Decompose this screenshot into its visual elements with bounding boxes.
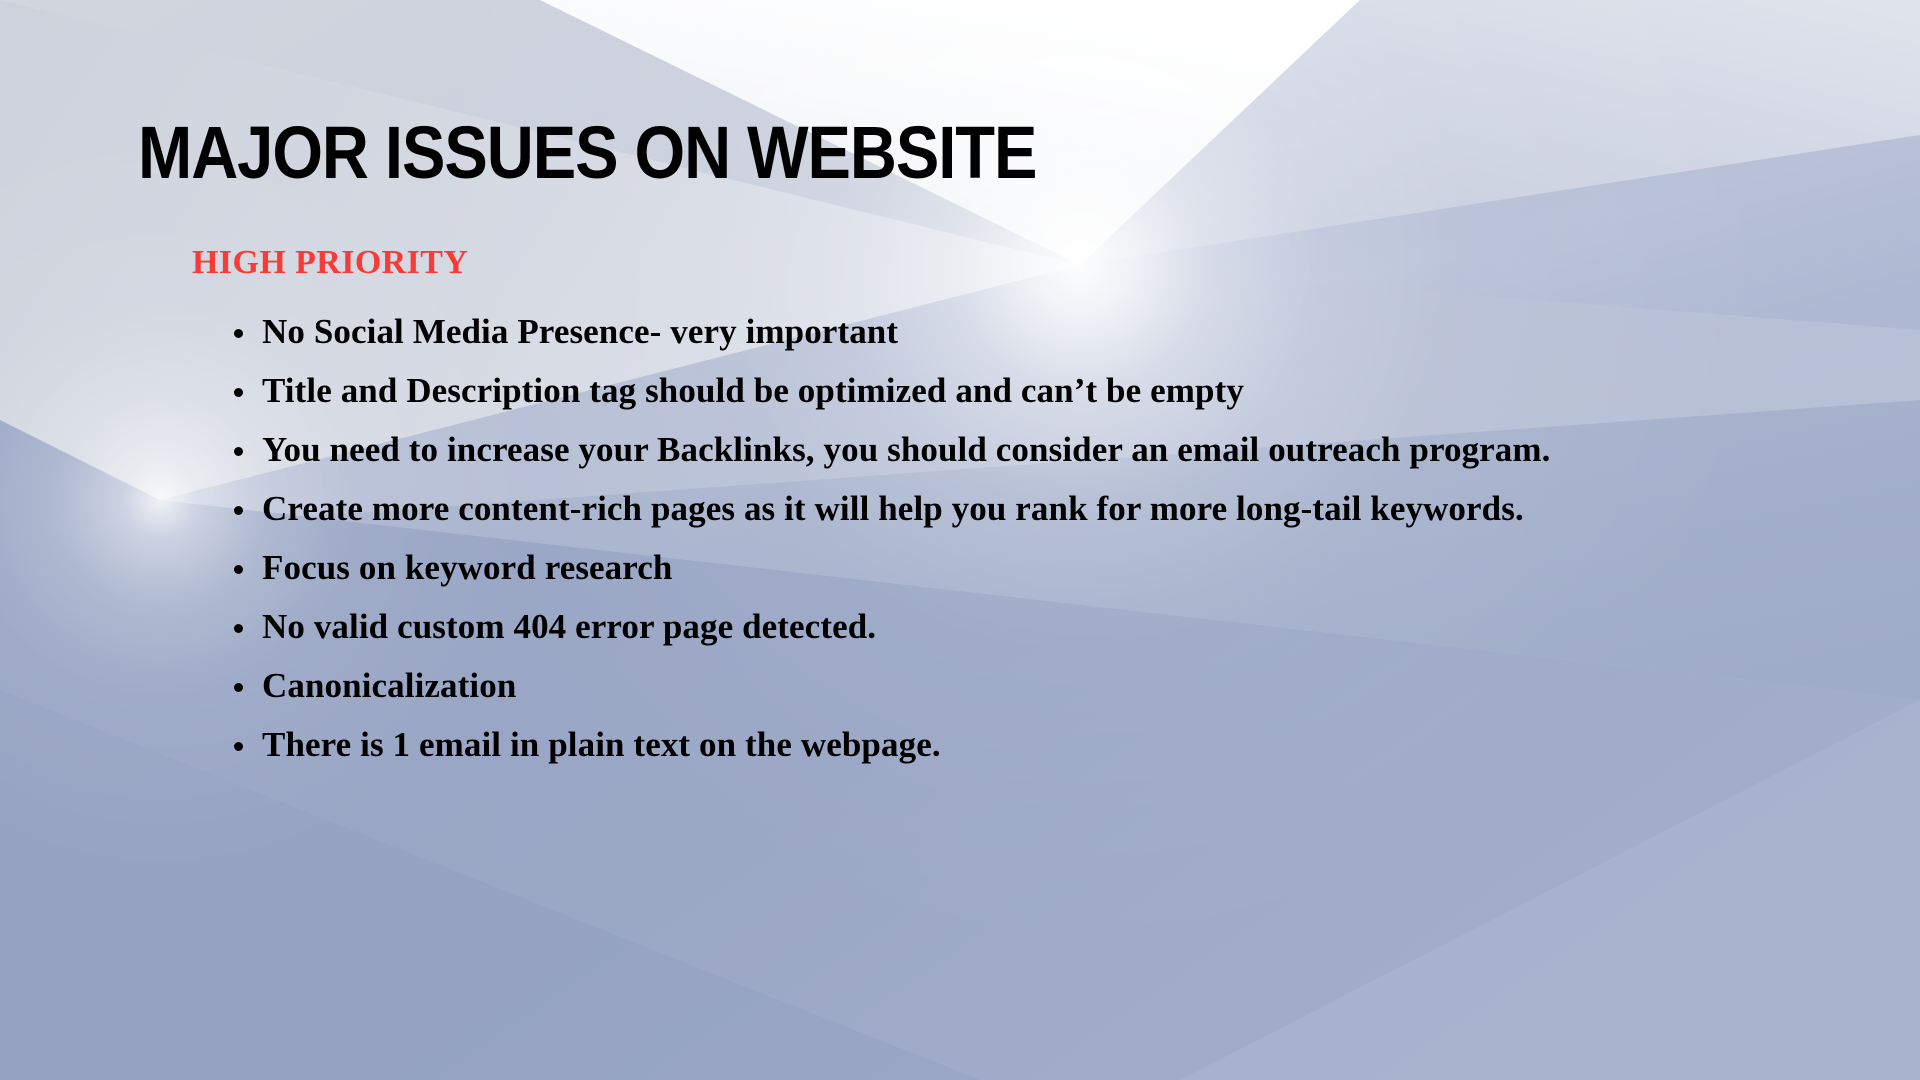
- list-item: Canonicalization: [228, 656, 1648, 715]
- list-item: There is 1 email in plain text on the we…: [228, 715, 1648, 774]
- list-item: You need to increase your Backlinks, you…: [228, 420, 1648, 479]
- list-item: Title and Description tag should be opti…: [228, 361, 1648, 420]
- list-item: No valid custom 404 error page detected.: [228, 597, 1648, 656]
- priority-heading: HIGH PRIORITY: [192, 246, 468, 280]
- presentation-slide: MAJOR ISSUES ON WEBSITE HIGH PRIORITY No…: [0, 0, 1920, 1080]
- list-item: No Social Media Presence- very important: [228, 302, 1648, 361]
- list-item: Focus on keyword research: [228, 538, 1648, 597]
- list-item: Create more content-rich pages as it wil…: [228, 479, 1648, 538]
- page-title: MAJOR ISSUES ON WEBSITE: [138, 116, 1036, 190]
- slide-content: MAJOR ISSUES ON WEBSITE HIGH PRIORITY No…: [0, 0, 1920, 1080]
- issues-bullet-list: No Social Media Presence- very important…: [228, 302, 1648, 774]
